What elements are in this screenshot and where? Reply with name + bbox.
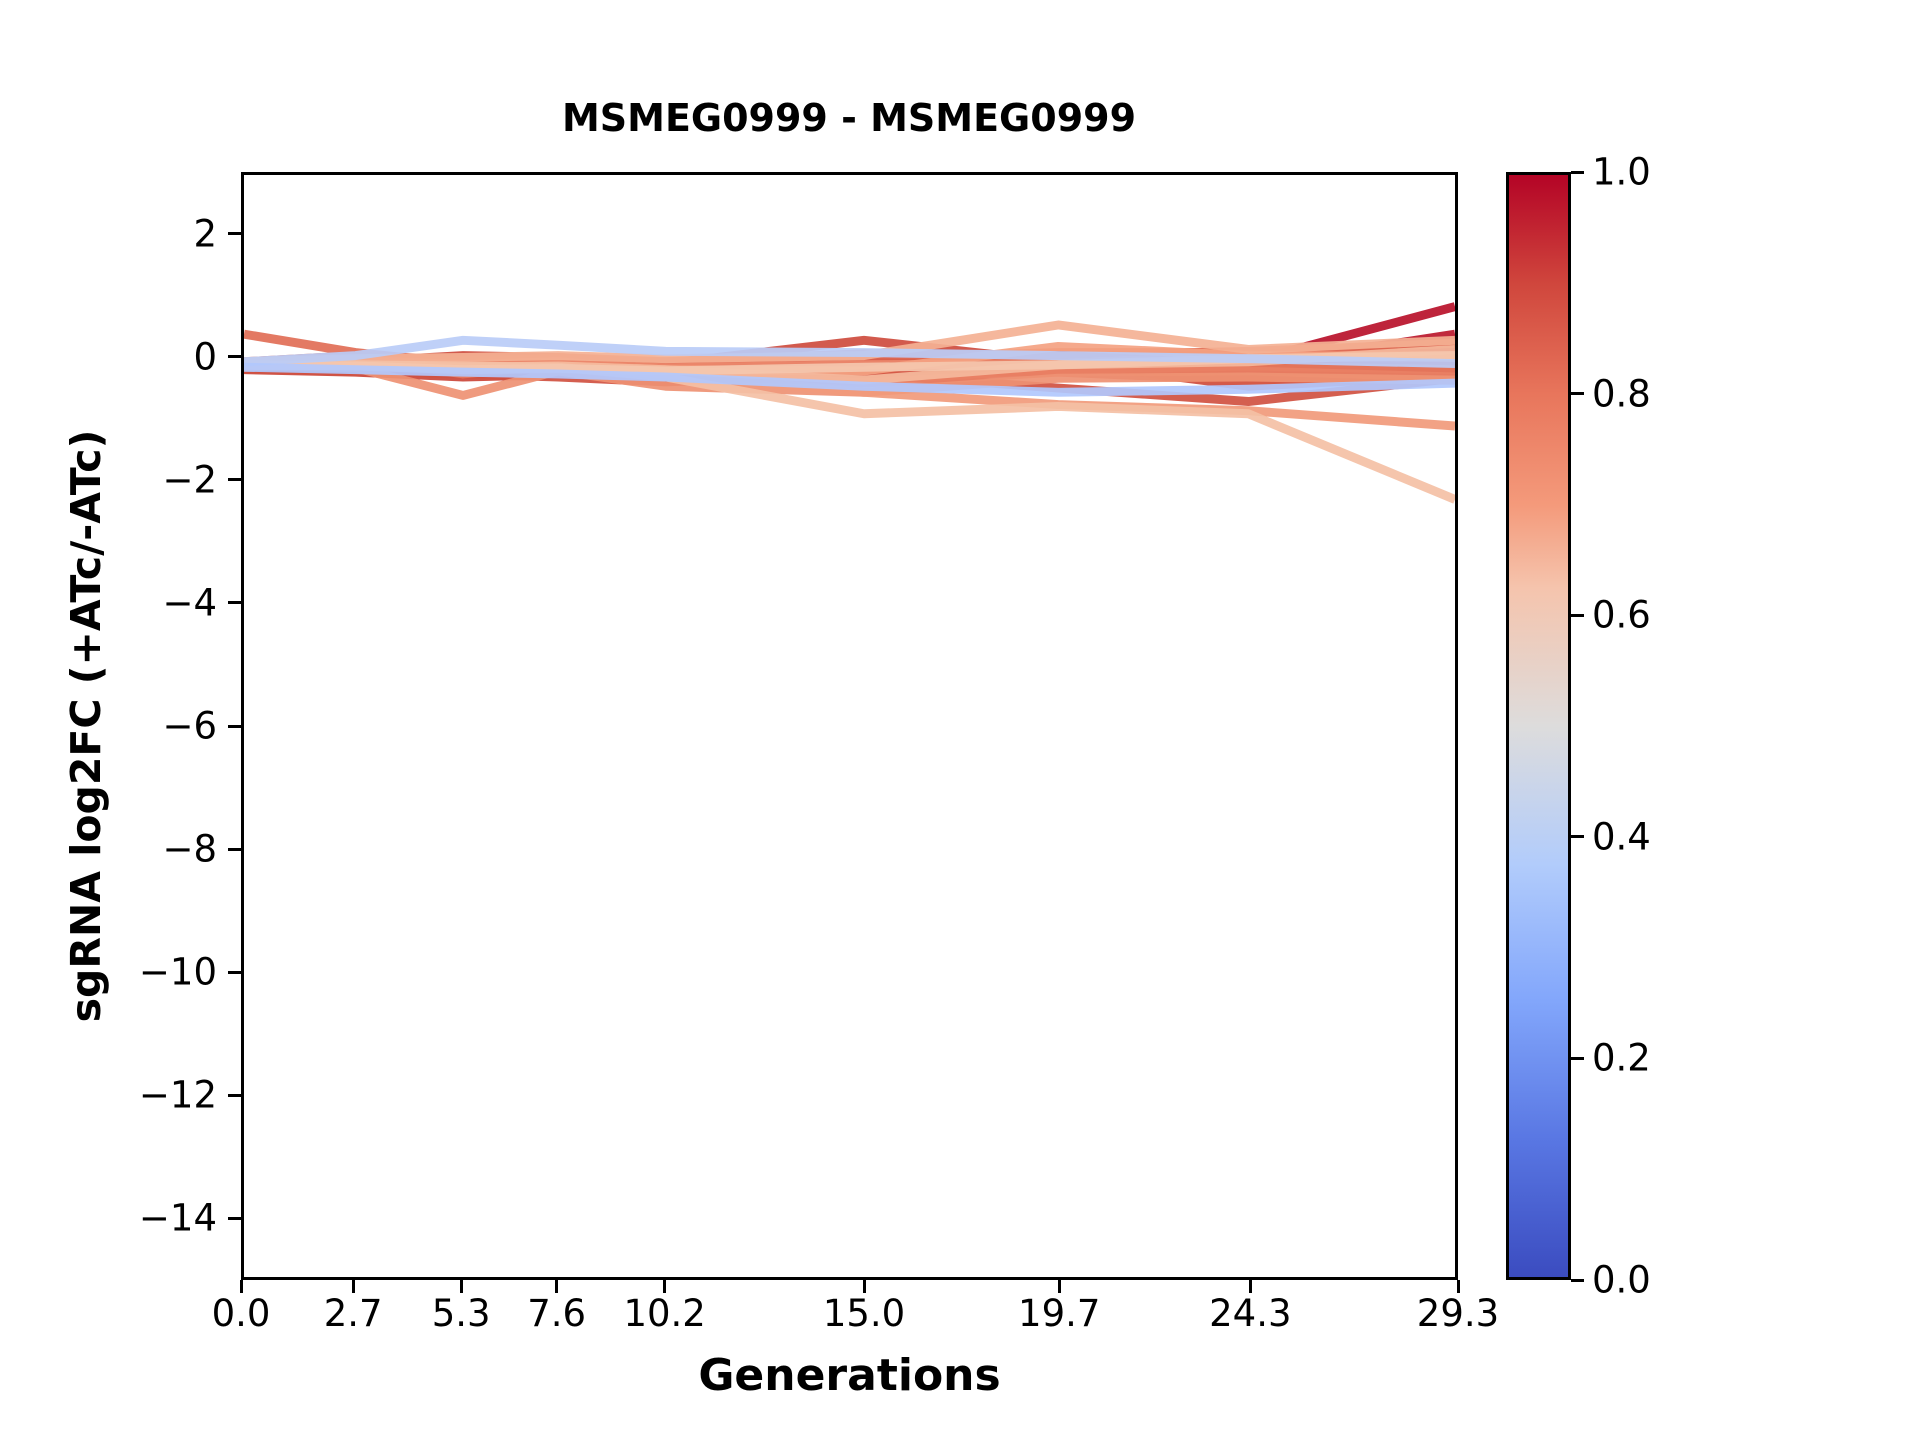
x-tick-label: 2.7 — [324, 1292, 383, 1335]
colorbar-tick-mark — [1571, 1057, 1584, 1060]
y-tick-mark — [228, 355, 241, 358]
colorbar-tick-label: 0.8 — [1592, 372, 1651, 415]
y-tick-label: 0 — [0, 335, 217, 378]
x-tick-label: 10.2 — [623, 1292, 705, 1335]
y-tick-label: −10 — [0, 951, 217, 994]
y-tick-label: −4 — [0, 581, 217, 624]
figure-canvas: MSMEG0999 - MSMEG0999 sgRNA log2FC (+ATc… — [0, 0, 1920, 1440]
y-tick-label: 2 — [0, 212, 217, 255]
plot-area — [241, 172, 1458, 1280]
colorbar-tick-label: 1.0 — [1592, 151, 1651, 194]
y-tick-label: −14 — [0, 1197, 217, 1240]
y-tick-mark — [228, 848, 241, 851]
y-tick-mark — [228, 1094, 241, 1097]
x-tick-label: 19.7 — [1018, 1292, 1100, 1335]
colorbar-tick-mark — [1571, 1279, 1584, 1282]
x-tick-label: 5.3 — [432, 1292, 491, 1335]
y-tick-mark — [228, 971, 241, 974]
x-tick-label: 24.3 — [1209, 1292, 1291, 1335]
colorbar-tick-label: 0.4 — [1592, 815, 1651, 858]
colorbar-tick-mark — [1571, 392, 1584, 395]
y-tick-mark — [228, 725, 241, 728]
line-series-group — [244, 175, 1455, 1277]
page-title: MSMEG0999 - MSMEG0999 — [240, 96, 1458, 140]
colorbar-tick-label: 0.2 — [1592, 1037, 1651, 1080]
x-tick-label: 29.3 — [1417, 1292, 1499, 1335]
colorbar-tick-mark — [1571, 171, 1584, 174]
y-tick-mark — [228, 478, 241, 481]
x-tick-label: 0.0 — [212, 1292, 271, 1335]
colorbar-tick-mark — [1571, 835, 1584, 838]
x-tick-label: 15.0 — [823, 1292, 905, 1335]
x-axis-label: Generations — [241, 1350, 1458, 1401]
y-tick-mark — [228, 232, 241, 235]
colorbar-tick-mark — [1571, 614, 1584, 617]
y-tick-label: −8 — [0, 828, 217, 871]
colorbar-tick-label: 0.6 — [1592, 594, 1651, 637]
y-tick-mark — [228, 601, 241, 604]
colorbar-tick-label: 0.0 — [1592, 1259, 1651, 1302]
y-tick-mark — [228, 1217, 241, 1220]
y-tick-label: −6 — [0, 705, 217, 748]
x-tick-label: 7.6 — [527, 1292, 586, 1335]
y-tick-label: −12 — [0, 1074, 217, 1117]
colorbar-gradient — [1506, 172, 1571, 1280]
y-tick-label: −2 — [0, 458, 217, 501]
